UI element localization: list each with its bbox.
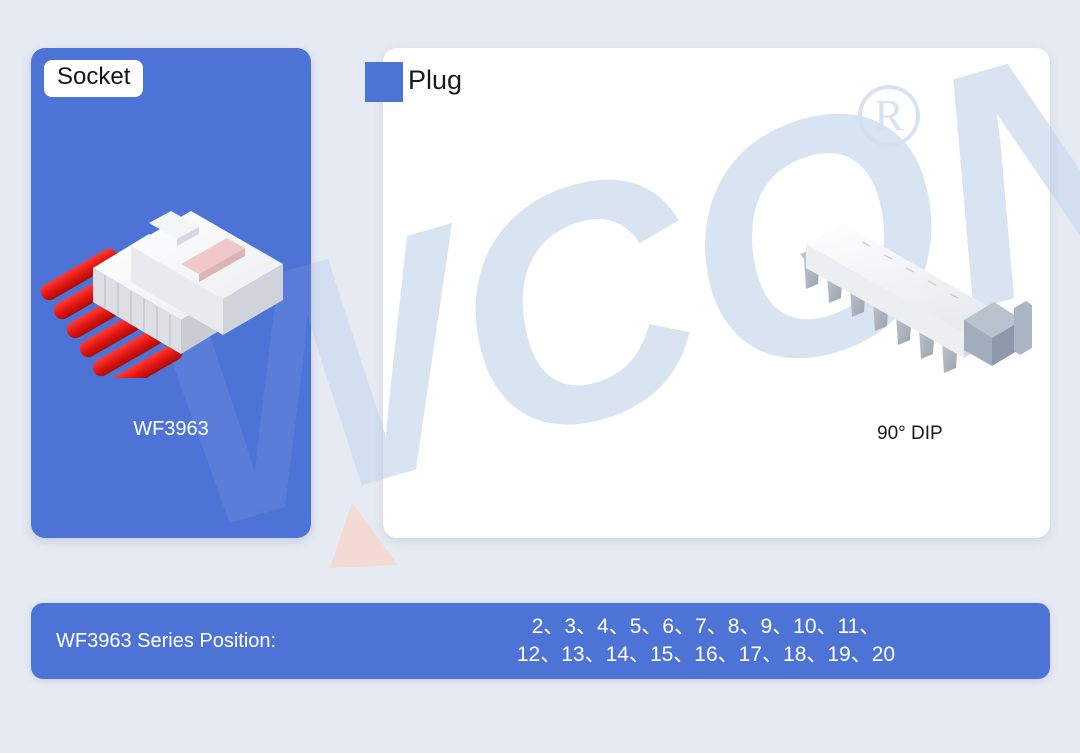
- plug-legend-swatch: [365, 62, 403, 102]
- plug-panel: WCON R: [383, 48, 1050, 538]
- socket-product-caption: WF3963: [31, 418, 311, 441]
- dip-90-image: [788, 208, 1048, 388]
- position-banner-label: WF3963 Series Position:: [56, 603, 276, 679]
- socket-panel: WCON Socket: [31, 48, 311, 538]
- position-line-1: 2、3、4、5、6、7、8、9、10、11、: [532, 613, 881, 641]
- plug-legend-label: Plug: [408, 64, 462, 98]
- socket-connector-image: [31, 168, 311, 378]
- svg-text:R: R: [874, 91, 904, 140]
- position-banner-values: 2、3、4、5、6、7、8、9、10、11、 12、13、14、15、16、17…: [471, 603, 941, 679]
- dip-90-caption: 90° DIP: [877, 423, 943, 445]
- position-line-2: 12、13、14、15、16、17、18、19、20: [517, 641, 895, 669]
- socket-badge: Socket: [44, 60, 143, 97]
- position-banner: WF3963 Series Position: 2、3、4、5、6、7、8、9、…: [31, 603, 1050, 679]
